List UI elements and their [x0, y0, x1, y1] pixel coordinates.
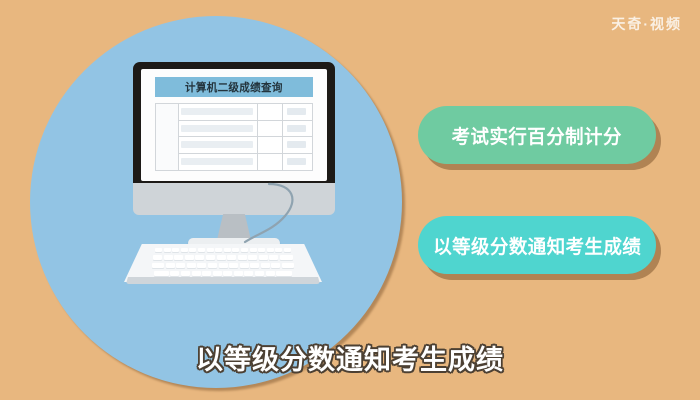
keyboard-key: [241, 248, 248, 252]
keyboard-key: [219, 263, 228, 268]
table-cell: [258, 104, 282, 120]
keyboard-key: [250, 248, 257, 252]
keyboard-key: [269, 255, 278, 260]
placeholder-bar: [287, 108, 307, 115]
desktop-monitor: 计算机二级成绩查询: [133, 62, 335, 252]
table-cell: [258, 154, 282, 171]
keyboard-key: [250, 263, 259, 268]
keyboard-key: [255, 271, 264, 276]
table-cell: [283, 104, 313, 120]
monitor-bezel: 计算机二级成绩查询: [133, 62, 335, 190]
table-row: [178, 137, 312, 154]
keyboard-key: [166, 263, 175, 268]
keyboard-key: [185, 255, 194, 260]
keyboard-key: [174, 255, 183, 260]
placeholder-bar: [181, 108, 253, 115]
keyboard-key: [259, 255, 268, 260]
keyboard-key: [282, 263, 294, 268]
keyboard-key: [217, 255, 226, 260]
keyboard-key: [261, 263, 270, 268]
table-row: [178, 154, 312, 171]
keyboard-key: [224, 248, 231, 252]
keyboard-key: [213, 271, 222, 276]
placeholder-bar: [181, 141, 253, 148]
table-cell: [178, 121, 258, 137]
keyboard-body: [124, 244, 322, 282]
keyboard-key: [164, 248, 171, 252]
keyboard-key: [229, 263, 238, 268]
table-cell: [258, 121, 282, 137]
keyboard-key: [181, 271, 190, 276]
monitor-screen: 计算机二级成绩查询: [141, 69, 327, 181]
table-row: [178, 121, 312, 138]
keyboard-key: [275, 248, 282, 252]
keyboard-key: [227, 255, 236, 260]
keyboard-key: [164, 255, 173, 260]
table-cell: [178, 154, 258, 171]
keyboard-key: [152, 263, 164, 268]
keyboard-keys: [124, 244, 322, 282]
keyboard: [124, 244, 322, 288]
keyboard-key: [244, 271, 253, 276]
monitor-lower-bezel: [133, 183, 335, 215]
placeholder-bar: [287, 141, 307, 148]
screen-header-bar: 计算机二级成绩查询: [155, 77, 313, 97]
keyboard-key: [181, 248, 188, 252]
keyboard-key: [187, 263, 196, 268]
keyboard-key: [208, 263, 217, 268]
keyboard-key: [223, 271, 232, 276]
table-row: [178, 104, 312, 121]
keyboard-key: [271, 263, 280, 268]
subtitle-caption: 以等级分数通知考生成绩: [0, 338, 700, 377]
keyboard-key: [202, 271, 211, 276]
keyboard-key: [195, 255, 204, 260]
keyboard-key: [267, 248, 274, 252]
keyboard-base: [126, 277, 320, 284]
video-frame: 计算机二级成绩查询: [0, 0, 700, 400]
placeholder-bar: [181, 125, 253, 132]
keyboard-key: [240, 263, 249, 268]
keyboard-key: [248, 255, 257, 260]
keyboard-key: [280, 255, 293, 260]
table-cell: [258, 137, 282, 153]
keyboard-key: [172, 248, 179, 252]
pill-exam-scoring-label: 考试实行百分制计分: [452, 122, 622, 149]
keyboard-key: [192, 271, 201, 276]
keyboard-key: [206, 255, 215, 260]
screen-header-title: 计算机二级成绩查询: [185, 79, 283, 95]
keyboard-key: [176, 263, 185, 268]
table-cell: [178, 137, 258, 153]
table-rows: [178, 104, 312, 170]
pill-grade-notice-label: 以等级分数通知考生成绩: [433, 232, 641, 259]
table-side-column: [156, 104, 179, 170]
keyboard-key: [197, 263, 206, 268]
pill-grade-notice: 以等级分数通知考生成绩: [418, 216, 656, 274]
watermark: 天奇·视频: [611, 14, 682, 34]
keyboard-key: [207, 248, 214, 252]
placeholder-bar: [181, 158, 253, 165]
monitor-stand: [217, 214, 251, 240]
keyboard-key: [189, 248, 196, 252]
placeholder-bar: [287, 158, 307, 165]
keyboard-key: [238, 255, 247, 260]
keyboard-key: [198, 248, 205, 252]
table-cell: [283, 154, 313, 171]
keyboard-key: [284, 248, 291, 252]
keyboard-key: [276, 271, 292, 276]
keyboard-key: [258, 248, 265, 252]
pill-exam-scoring: 考试实行百分制计分: [418, 106, 656, 164]
keyboard-key: [170, 271, 179, 276]
keyboard-key: [232, 248, 239, 252]
table-cell: [283, 121, 313, 137]
keyboard-key: [153, 255, 162, 260]
keyboard-key: [154, 271, 169, 276]
placeholder-bar: [287, 125, 307, 132]
keyboard-key: [266, 271, 275, 276]
table-cell: [178, 104, 258, 120]
keyboard-key: [155, 248, 162, 252]
table-cell: [283, 137, 313, 153]
keyboard-key: [215, 248, 222, 252]
score-query-table: [155, 103, 313, 171]
keyboard-key: [234, 271, 243, 276]
